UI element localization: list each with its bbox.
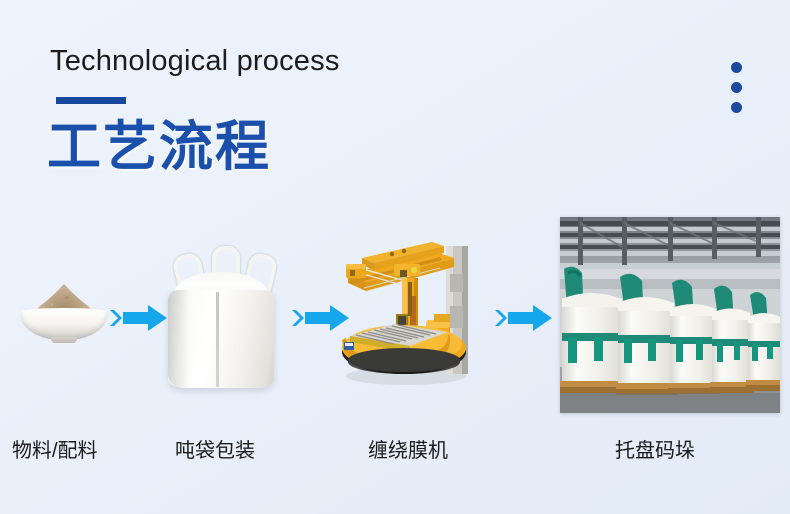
title-divider-rule	[56, 97, 126, 104]
page-title-english: Technological process	[50, 43, 340, 79]
bowl-body	[20, 310, 108, 340]
kebab-dot-icon	[731, 82, 742, 93]
kebab-dot-icon	[731, 102, 742, 113]
step-image-wrapping-machine	[328, 236, 484, 392]
step-label-material: 物料/配料	[12, 438, 98, 464]
kebab-menu-button[interactable]	[731, 62, 742, 113]
step-label-palletizing: 托盘码垛	[615, 438, 695, 464]
bag-seam	[216, 292, 219, 387]
flow-arrow-icon	[495, 303, 553, 333]
step-image-warehouse	[560, 217, 780, 413]
page-title-chinese: 工艺流程	[47, 116, 271, 178]
step-image-material	[18, 282, 110, 344]
bag-shading	[168, 290, 190, 388]
bowl-foot	[51, 337, 77, 343]
step-label-bagging: 吨袋包装	[175, 438, 255, 464]
step-label-wrapping: 缠绕膜机	[368, 438, 448, 464]
kebab-dot-icon	[731, 62, 742, 73]
step-image-fibc-bag	[160, 232, 282, 392]
process-flow-banner: Technological process 工艺流程	[0, 0, 790, 514]
